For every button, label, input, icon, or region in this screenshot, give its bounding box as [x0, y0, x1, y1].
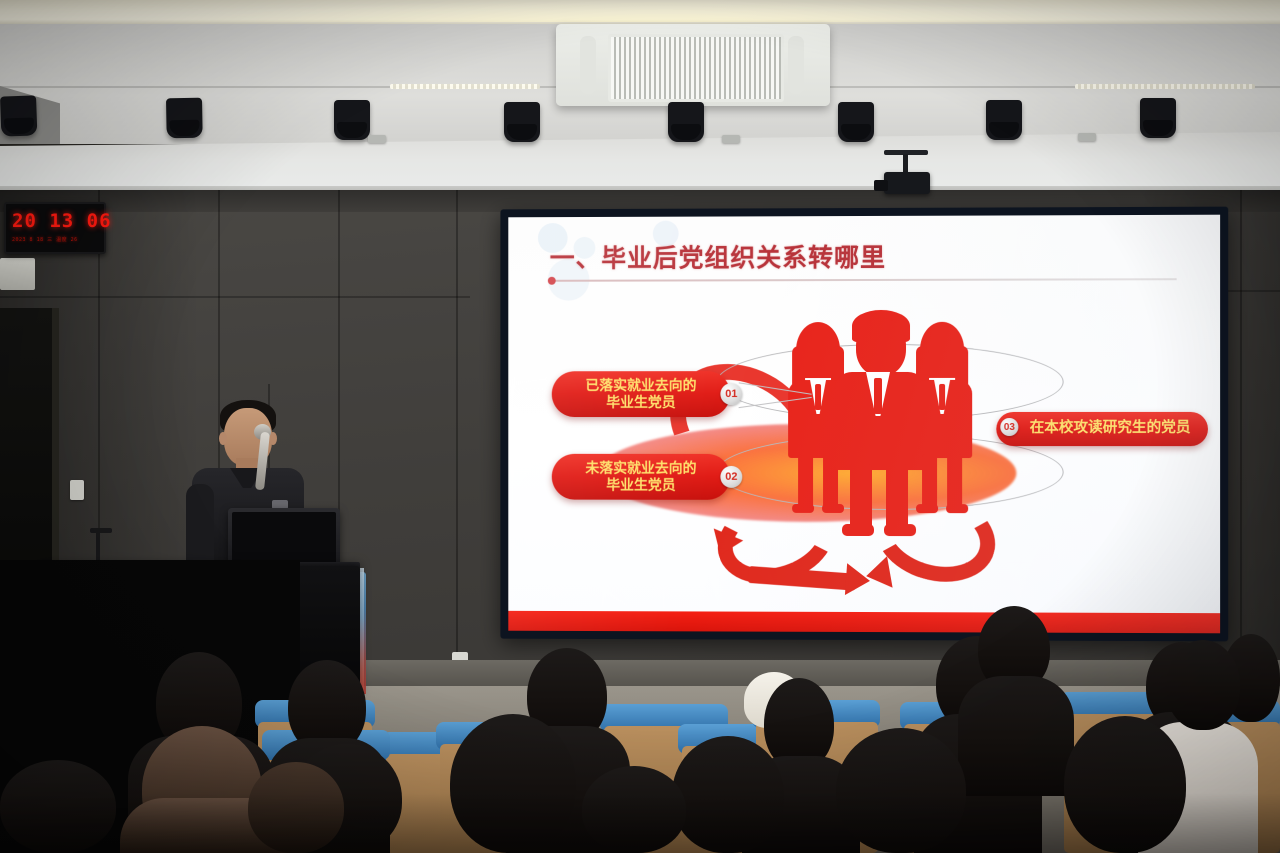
- audience-head-f6: [836, 728, 966, 853]
- slide-badge-03: 03: [1000, 418, 1018, 436]
- bubble-2-line-2: 毕业生党员: [606, 477, 675, 494]
- projection-screen: 一、毕业后党组织关系转哪里: [508, 215, 1220, 634]
- bubble-1-line-1: 已落实就业去向的: [585, 377, 696, 394]
- ceiling-spotlight-3: [334, 100, 370, 140]
- audience-head-f2: [0, 760, 116, 853]
- vent-blade-right: [788, 36, 804, 94]
- slide-people-graphic: [776, 306, 986, 557]
- clock-secondary-display: 2023 8 18 三 温度 26: [12, 236, 98, 245]
- ceiling-spotlight-4: [504, 102, 540, 142]
- ceiling-small-fixture-1: [368, 135, 386, 143]
- vent-grille: [608, 34, 784, 102]
- slide-bubble-1: 已落实就业去向的 毕业生党员: [552, 371, 731, 417]
- figure-tie: [815, 384, 821, 410]
- figure-head: [856, 318, 906, 376]
- ceiling-spotlight-8: [1140, 98, 1176, 138]
- audience-head-white-top: [1166, 640, 1240, 730]
- audience-shoulders-b5: [958, 676, 1074, 796]
- ceiling-led-strip-right: [1075, 84, 1255, 89]
- microphone-stand-arm: [90, 528, 112, 533]
- slide-title: 一、毕业后党组织关系转哪里: [550, 238, 886, 275]
- ceiling-small-fixture-3: [1078, 133, 1096, 141]
- figure-tie: [939, 384, 945, 410]
- audience-head-f8: [248, 762, 344, 853]
- audience-head-f5: [672, 736, 784, 853]
- auditorium-photo: 20 13 06 2023 8 18 三 温度 26 一、毕业后党组织关系转哪里: [0, 0, 1280, 853]
- clock-time-display: 20 13 06: [12, 210, 98, 234]
- wall-seam-v4: [456, 190, 458, 670]
- wall-door-plate: [0, 258, 35, 290]
- ceiling-spotlight-1: [0, 95, 37, 136]
- figure-woman-right: [906, 322, 978, 512]
- slide-bubble-2: 未落实就业去向的 毕业生党员: [552, 454, 731, 500]
- projector-mount: [903, 154, 908, 174]
- led-wall-clock: 20 13 06 2023 8 18 三 温度 26: [4, 202, 106, 254]
- arrow-bottom-bar: [748, 566, 857, 591]
- projector: [884, 172, 930, 194]
- slide-title-dot: [548, 277, 556, 285]
- slide-title-rule: [552, 278, 1177, 282]
- slide-badge-01: 01: [720, 383, 742, 405]
- slide-bubble-3: 在本校攻读研究生的党员: [996, 412, 1208, 446]
- presenter-ear-left: [219, 432, 227, 445]
- arrow-right-head: [863, 556, 892, 592]
- projection-screen-frame: 一、毕业后党组织关系转哪里: [500, 207, 1228, 642]
- bubble-1-line-2: 毕业生党员: [606, 394, 675, 411]
- ceiling-spotlight-2: [166, 98, 203, 139]
- slide-badge-02: 02: [720, 466, 742, 488]
- bubble-2-line-1: 未落实就业去向的: [585, 460, 696, 477]
- projector-lens: [874, 180, 888, 191]
- slide-bottom-bar: [508, 611, 1220, 633]
- ceiling-cove-glow: [120, 0, 1160, 22]
- ceiling-spotlight-7: [986, 100, 1022, 140]
- ceiling-spotlight-6: [838, 102, 874, 142]
- audience-head-f7: [1064, 716, 1186, 853]
- graphic-circular-arrows: [706, 496, 1006, 607]
- monitor-screen: [232, 512, 336, 566]
- ceiling-air-conditioner-vent: [556, 24, 830, 106]
- audience-head-f9: [582, 766, 686, 853]
- ceiling-led-strip-left: [390, 84, 540, 89]
- ceiling-spotlight-5: [668, 102, 704, 142]
- audience-head-f4: [450, 714, 576, 853]
- figure-tie: [874, 378, 882, 414]
- ceiling-small-fixture-2: [722, 135, 740, 143]
- vent-blade-left: [580, 36, 596, 94]
- wall-light-switch[interactable]: [70, 480, 84, 500]
- bubble-3-line-1: 在本校攻读研究生的党员: [1014, 420, 1191, 438]
